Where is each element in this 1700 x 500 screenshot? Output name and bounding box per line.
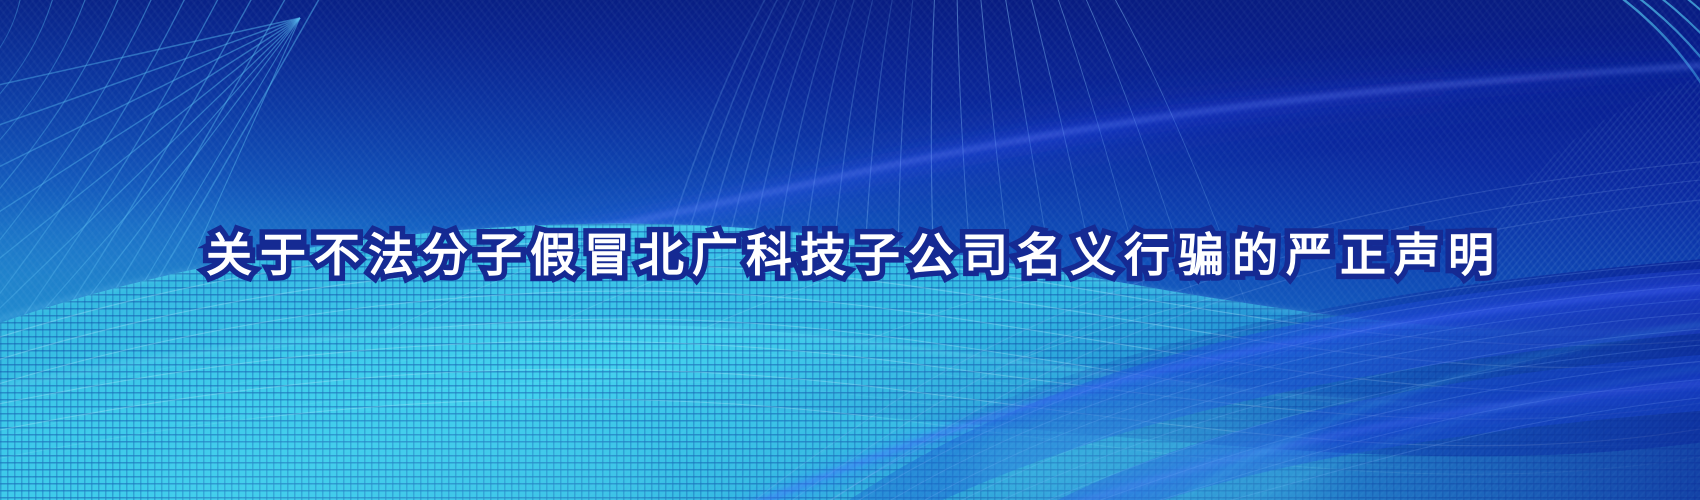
banner-background-art bbox=[0, 0, 1700, 500]
announcement-banner: 关于不法分子假冒北广科技子公司名义行骗的严正声明 bbox=[0, 0, 1700, 500]
overlay-hatch-texture bbox=[0, 0, 1700, 500]
